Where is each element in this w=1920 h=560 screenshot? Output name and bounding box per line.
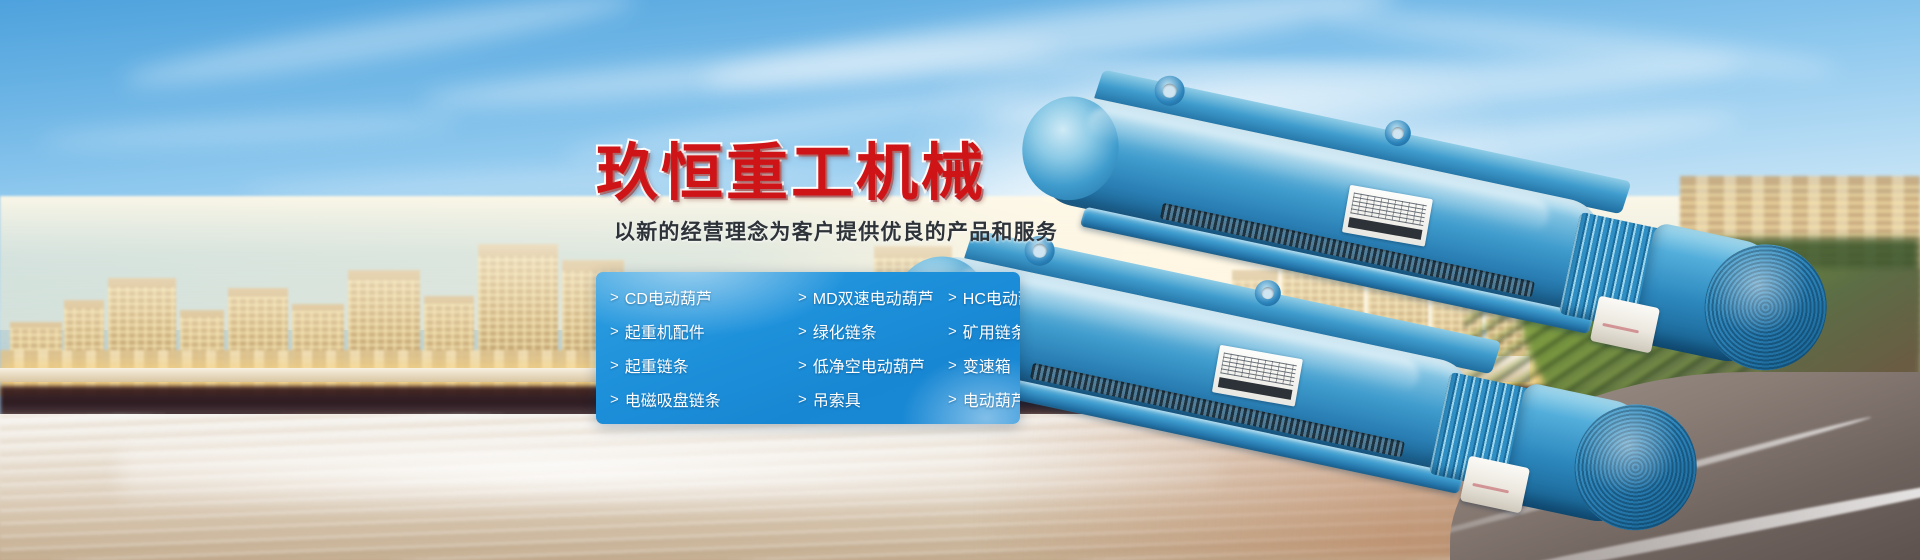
chevron-right-icon: > xyxy=(610,357,619,374)
product-link-label: CD电动葫芦 xyxy=(625,285,712,309)
product-photo-hoists xyxy=(1020,40,1920,460)
product-link-label: 电磁吸盘链条 xyxy=(625,387,721,411)
product-link-label: 绿化链条 xyxy=(813,319,877,343)
chevron-right-icon: > xyxy=(798,357,807,374)
hero-banner: 玖恒重工机械 以新的经营理念为客户提供优良的产品和服务 >CD电动葫芦>MD双速… xyxy=(0,0,1920,560)
product-link[interactable]: >电磁吸盘链条 xyxy=(610,387,798,411)
product-link-label: MD双速电动葫芦 xyxy=(813,285,934,309)
chevron-right-icon: > xyxy=(798,323,807,340)
product-link-grid: >CD电动葫芦>MD双速电动葫芦>HC电动葫芦>起重机配件>绿化链条>矿用链条>… xyxy=(596,272,1020,424)
product-link-label: 起重机配件 xyxy=(625,319,705,343)
chevron-right-icon: > xyxy=(948,323,957,340)
page-subtitle: 以新的经营理念为客户提供优良的产品和服务 xyxy=(614,216,1058,246)
chevron-right-icon: > xyxy=(948,357,957,374)
product-link-label: 变速箱 xyxy=(963,353,1011,377)
product-link-label: 低净空电动葫芦 xyxy=(813,353,925,377)
product-link[interactable]: >吊索具 xyxy=(798,387,948,411)
chevron-right-icon: > xyxy=(798,391,807,408)
chevron-right-icon: > xyxy=(948,391,957,408)
product-link[interactable]: >矿用链条 xyxy=(948,319,1020,343)
product-link-label: HC电动葫芦 xyxy=(963,285,1020,309)
product-link-label: 起重链条 xyxy=(625,353,689,377)
product-link[interactable]: >低净空电动葫芦 xyxy=(798,353,948,377)
chevron-right-icon: > xyxy=(798,289,807,306)
product-link-label: 矿用链条 xyxy=(963,319,1020,343)
product-link-label: 电动葫芦 xyxy=(963,387,1020,411)
chevron-right-icon: > xyxy=(610,391,619,408)
product-link-box: >CD电动葫芦>MD双速电动葫芦>HC电动葫芦>起重机配件>绿化链条>矿用链条>… xyxy=(596,272,1020,424)
chevron-right-icon: > xyxy=(610,289,619,306)
page-title: 玖恒重工机械 xyxy=(596,122,986,212)
product-link[interactable]: >MD双速电动葫芦 xyxy=(798,285,948,309)
product-link[interactable]: >CD电动葫芦 xyxy=(610,285,798,309)
retaining-wall-segment xyxy=(0,368,690,382)
product-link[interactable]: >起重链条 xyxy=(610,353,798,377)
product-link-label: 吊索具 xyxy=(813,387,861,411)
product-link[interactable]: >HC电动葫芦 xyxy=(948,285,1020,309)
product-link[interactable]: >绿化链条 xyxy=(798,319,948,343)
chevron-right-icon: > xyxy=(948,289,957,306)
chevron-right-icon: > xyxy=(610,323,619,340)
product-link[interactable]: >电动葫芦 xyxy=(948,387,1020,411)
cloud-wisp xyxy=(40,109,461,153)
product-link[interactable]: >起重机配件 xyxy=(610,319,798,343)
product-link[interactable]: >变速箱 xyxy=(948,353,1020,377)
